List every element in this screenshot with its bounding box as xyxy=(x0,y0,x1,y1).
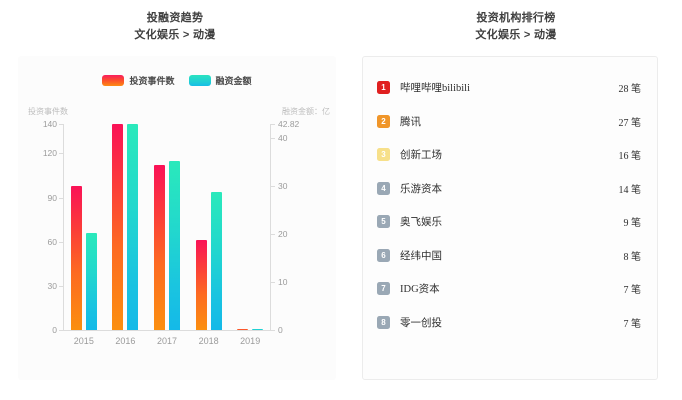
chart-bars xyxy=(63,124,271,330)
chart-card: 投资事件数 融资金额 投资事件数 融资金额：亿 0306090120140 01… xyxy=(18,56,336,380)
y-tick-right xyxy=(271,234,275,235)
bar-amount[interactable] xyxy=(127,124,138,330)
bar-amount[interactable] xyxy=(169,161,180,330)
chart-plot-area: 0306090120140 01020304042.82 20152016201… xyxy=(63,124,271,330)
right-panel-title: 投资机构排行榜 xyxy=(350,10,682,27)
ranking-row[interactable]: 6经纬中国8 笔 xyxy=(377,239,641,273)
legend-label-amount: 融资金额 xyxy=(216,74,252,87)
right-axis-title: 融资金额：亿 xyxy=(282,106,330,117)
ranking-row[interactable]: 2腾讯27 笔 xyxy=(377,105,641,139)
left-panel-header: 投融资趋势 文化娱乐 > 动漫 xyxy=(0,0,350,44)
rank-badge: 5 xyxy=(377,215,390,228)
x-axis-line xyxy=(63,330,271,331)
ranking-row[interactable]: 5奥飞娱乐9 笔 xyxy=(377,205,641,239)
y-tick-right xyxy=(271,124,275,125)
rank-badge: 2 xyxy=(377,115,390,128)
y-tick-label-right: 42.82 xyxy=(278,120,299,129)
investor-ranking-panel: 投资机构排行榜 文化娱乐 > 动漫 1哔哩哔哩bilibili28 笔2腾讯27… xyxy=(350,0,682,400)
y-tick-right xyxy=(271,330,275,331)
investor-name[interactable]: 零一创投 xyxy=(400,315,624,330)
ranking-row[interactable]: 1哔哩哔哩bilibili28 笔 xyxy=(377,71,641,105)
left-panel-breadcrumb: 文化娱乐 > 动漫 xyxy=(0,27,350,44)
legend-swatch-amount xyxy=(189,75,211,86)
dashboard-page: 投融资趋势 文化娱乐 > 动漫 投资事件数 融资金额 投资事件数 融资金额：亿 xyxy=(0,0,682,400)
investor-name[interactable]: 乐游资本 xyxy=(400,181,619,196)
rank-badge: 8 xyxy=(377,316,390,329)
ranking-row[interactable]: 3创新工场16 笔 xyxy=(377,138,641,172)
x-axis-label: 2015 xyxy=(61,336,107,346)
investment-count: 14 笔 xyxy=(619,181,642,196)
bar-group[interactable] xyxy=(229,124,271,330)
y-tick-left xyxy=(59,330,63,331)
ranking-row[interactable]: 8零一创投7 笔 xyxy=(377,306,641,340)
bar-amount[interactable] xyxy=(86,233,97,330)
bar-events[interactable] xyxy=(237,329,248,331)
legend-label-events: 投资事件数 xyxy=(129,74,174,87)
y-tick-label-right: 30 xyxy=(278,182,287,191)
x-axis-label: 2017 xyxy=(144,336,190,346)
y-tick-right xyxy=(271,186,275,187)
x-axis-label: 2018 xyxy=(186,336,232,346)
investment-count: 27 笔 xyxy=(619,114,642,129)
y-tick-label-right: 40 xyxy=(278,134,287,143)
investment-count: 28 笔 xyxy=(619,80,642,95)
legend-item-events[interactable]: 投资事件数 xyxy=(102,74,174,87)
y-tick-label-left: 90 xyxy=(31,194,57,203)
bar-events[interactable] xyxy=(196,240,207,330)
right-panel-header: 投资机构排行榜 文化娱乐 > 动漫 xyxy=(350,0,682,44)
bar-events[interactable] xyxy=(71,186,82,330)
legend-swatch-events xyxy=(102,75,124,86)
y-tick-label-left: 0 xyxy=(31,326,57,335)
investment-count: 8 笔 xyxy=(624,248,642,263)
y-tick-label-left: 120 xyxy=(31,149,57,158)
bar-group[interactable] xyxy=(188,124,230,330)
bar-events[interactable] xyxy=(112,124,123,330)
ranking-row[interactable]: 7IDG资本7 笔 xyxy=(377,272,641,306)
left-panel-title: 投融资趋势 xyxy=(0,10,350,27)
y-tick-right xyxy=(271,282,275,283)
investment-count: 7 笔 xyxy=(624,315,642,330)
legend-item-amount[interactable]: 融资金额 xyxy=(189,74,252,87)
investor-name[interactable]: 奥飞娱乐 xyxy=(400,214,624,229)
y-tick-label-right: 10 xyxy=(278,278,287,287)
ranking-list: 1哔哩哔哩bilibili28 笔2腾讯27 笔3创新工场16 笔4乐游资本14… xyxy=(363,57,657,339)
investor-name[interactable]: 腾讯 xyxy=(400,114,619,129)
bar-events[interactable] xyxy=(154,165,165,330)
investor-name[interactable]: 创新工场 xyxy=(400,147,619,162)
investment-count: 7 笔 xyxy=(624,281,642,296)
rank-badge: 4 xyxy=(377,182,390,195)
rank-badge: 3 xyxy=(377,148,390,161)
ranking-card: 1哔哩哔哩bilibili28 笔2腾讯27 笔3创新工场16 笔4乐游资本14… xyxy=(362,56,658,380)
investment-trend-panel: 投融资趋势 文化娱乐 > 动漫 投资事件数 融资金额 投资事件数 融资金额：亿 xyxy=(0,0,350,400)
right-panel-breadcrumb: 文化娱乐 > 动漫 xyxy=(350,27,682,44)
bar-group[interactable] xyxy=(63,124,105,330)
bar-amount[interactable] xyxy=(252,329,263,331)
y-tick-right xyxy=(271,138,275,139)
investment-count: 9 笔 xyxy=(624,214,642,229)
y-tick-label-right: 0 xyxy=(278,326,283,335)
investor-name[interactable]: 哔哩哔哩bilibili xyxy=(400,80,619,95)
y-tick-label-left: 60 xyxy=(31,238,57,247)
left-axis-title: 投资事件数 xyxy=(28,106,68,117)
rank-badge: 1 xyxy=(377,81,390,94)
chart-legend: 投资事件数 融资金额 xyxy=(18,74,336,87)
investor-name[interactable]: 经纬中国 xyxy=(400,248,624,263)
rank-badge: 7 xyxy=(377,282,390,295)
bar-group[interactable] xyxy=(105,124,147,330)
x-axis-label: 2016 xyxy=(102,336,148,346)
y-tick-label-left: 30 xyxy=(31,282,57,291)
investor-name[interactable]: IDG资本 xyxy=(400,281,624,296)
bar-amount[interactable] xyxy=(211,192,222,330)
x-axis-label: 2019 xyxy=(227,336,273,346)
bar-group[interactable] xyxy=(146,124,188,330)
investment-count: 16 笔 xyxy=(619,147,642,162)
y-tick-label-right: 20 xyxy=(278,230,287,239)
rank-badge: 6 xyxy=(377,249,390,262)
ranking-row[interactable]: 4乐游资本14 笔 xyxy=(377,172,641,206)
y-tick-label-left: 140 xyxy=(31,120,57,129)
